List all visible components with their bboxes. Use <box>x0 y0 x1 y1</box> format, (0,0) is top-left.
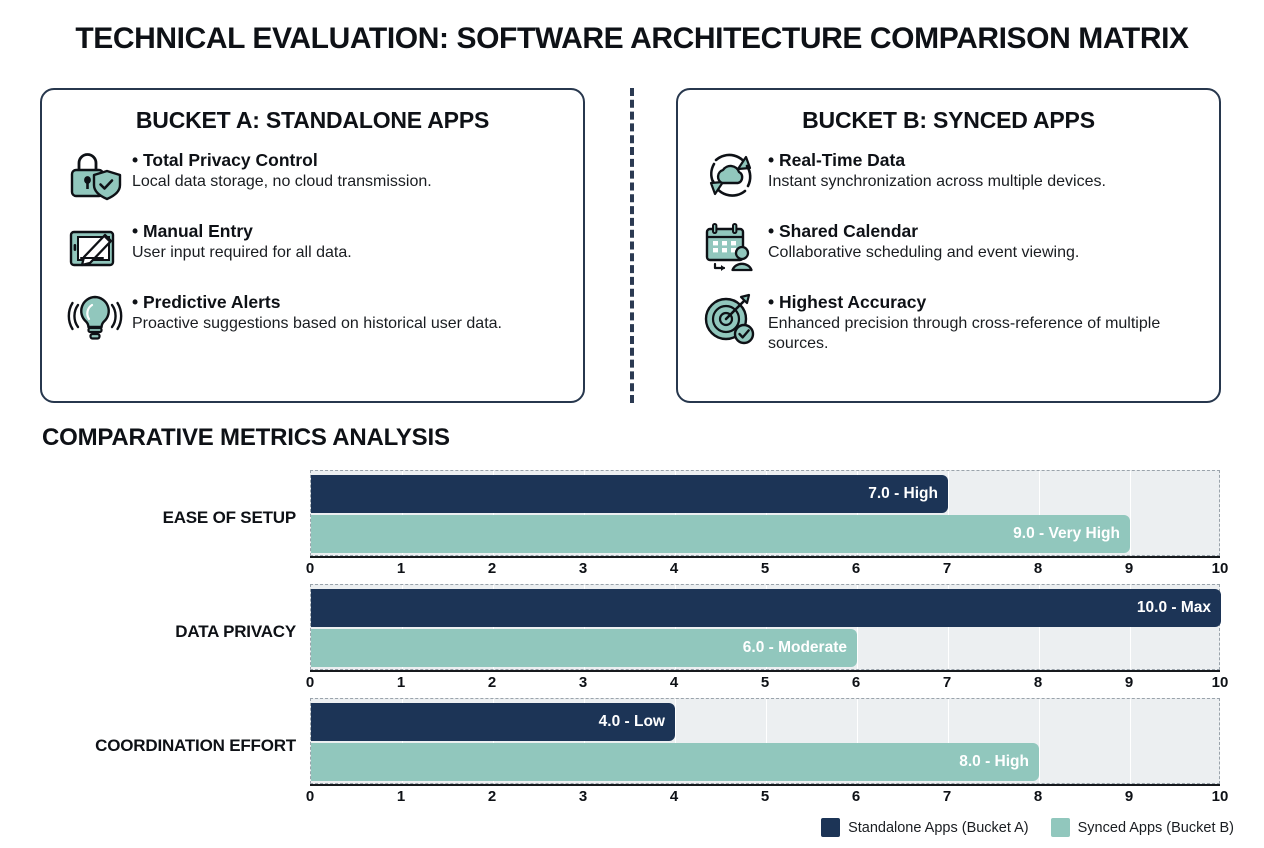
category-label: EASE OF SETUP <box>0 508 296 528</box>
x-tick-label: 2 <box>488 788 496 805</box>
legend-item-standalone: Standalone Apps (Bucket A) <box>821 818 1029 837</box>
x-tick-label: 3 <box>579 788 587 805</box>
x-axis-ticks: 012345678910 <box>310 788 1220 810</box>
feature-total-privacy-control: • Total Privacy Control Local data stora… <box>42 147 583 205</box>
chart-section-title: COMPARATIVE METRICS ANALYSIS <box>42 424 450 452</box>
feature-description: Proactive suggestions based on historica… <box>132 314 567 334</box>
x-tick-label: 9 <box>1125 674 1133 691</box>
bucket-a-title: BUCKET A: STANDALONE APPS <box>42 107 583 134</box>
x-tick-label: 5 <box>761 788 769 805</box>
x-tick-label: 7 <box>943 560 951 577</box>
chart-group: COORDINATION EFFORT4.0 - Low8.0 - High01… <box>0 694 1264 808</box>
chart-group: DATA PRIVACY10.0 - Max6.0 - Moderate0123… <box>0 580 1264 694</box>
feature-description: Enhanced precision through cross-referen… <box>768 314 1203 355</box>
page-title: TECHNICAL EVALUATION: SOFTWARE ARCHITECT… <box>0 22 1264 56</box>
x-tick-label: 7 <box>943 788 951 805</box>
x-tick-label: 2 <box>488 560 496 577</box>
bar-synced[interactable]: 6.0 - Moderate <box>311 629 857 667</box>
bar-standalone[interactable]: 10.0 - Max <box>311 589 1221 627</box>
x-axis-line <box>310 670 1220 672</box>
bucket-b-card: BUCKET B: SYNCED APPS • <box>676 88 1221 403</box>
x-tick-label: 5 <box>761 674 769 691</box>
feature-text: • Predictive Alerts Proactive suggestion… <box>126 289 567 334</box>
legend-swatch-synced <box>1051 818 1070 837</box>
bar-container: 7.0 - High9.0 - Very High <box>311 471 1219 555</box>
feature-shared-calendar: • Shared Calendar Collaborative scheduli… <box>678 218 1219 276</box>
x-tick-label: 10 <box>1212 560 1229 577</box>
comparative-metrics-chart: EASE OF SETUP7.0 - High9.0 - Very High01… <box>0 466 1264 808</box>
target-arrow-check-icon <box>700 289 762 347</box>
x-axis-line <box>310 556 1220 558</box>
legend-label-synced: Synced Apps (Bucket B) <box>1078 820 1234 836</box>
bar-standalone[interactable]: 4.0 - Low <box>311 703 675 741</box>
x-tick-label: 9 <box>1125 560 1133 577</box>
feature-manual-entry: • Manual Entry User input required for a… <box>42 218 583 276</box>
bar-value-label: 7.0 - High <box>868 485 938 503</box>
x-tick-label: 8 <box>1034 788 1042 805</box>
x-tick-label: 1 <box>397 788 405 805</box>
bucket-a-feature-list: • Total Privacy Control Local data stora… <box>42 147 583 347</box>
bar-value-label: 10.0 - Max <box>1137 599 1211 617</box>
x-tick-label: 10 <box>1212 788 1229 805</box>
feature-real-time-data: • Real-Time Data Instant synchronization… <box>678 147 1219 205</box>
x-tick-label: 0 <box>306 674 314 691</box>
x-tick-label: 1 <box>397 674 405 691</box>
bar-value-label: 6.0 - Moderate <box>743 639 847 657</box>
bar-value-label: 9.0 - Very High <box>1013 525 1120 543</box>
bucket-b-feature-list: • Real-Time Data Instant synchronization… <box>678 147 1219 355</box>
feature-heading: • Highest Accuracy <box>768 292 926 312</box>
category-label: COORDINATION EFFORT <box>0 736 296 756</box>
x-tick-label: 6 <box>852 560 860 577</box>
bar-synced[interactable]: 8.0 - High <box>311 743 1039 781</box>
legend-label-standalone: Standalone Apps (Bucket A) <box>848 820 1029 836</box>
x-axis-ticks: 012345678910 <box>310 560 1220 582</box>
feature-description: User input required for all data. <box>132 243 567 263</box>
x-tick-label: 8 <box>1034 560 1042 577</box>
bucket-b-title: BUCKET B: SYNCED APPS <box>678 107 1219 134</box>
plot-area: 10.0 - Max6.0 - Moderate <box>310 584 1220 670</box>
x-tick-label: 1 <box>397 560 405 577</box>
bar-standalone[interactable]: 7.0 - High <box>311 475 948 513</box>
x-axis-line <box>310 784 1220 786</box>
x-tick-label: 6 <box>852 788 860 805</box>
feature-heading: • Total Privacy Control <box>132 150 318 170</box>
bucket-a-card: BUCKET A: STANDALONE APPS • Total Pri <box>40 88 585 403</box>
feature-description: Local data storage, no cloud transmissio… <box>132 172 567 192</box>
plot-area: 4.0 - Low8.0 - High <box>310 698 1220 784</box>
x-tick-label: 10 <box>1212 674 1229 691</box>
feature-text: • Manual Entry User input required for a… <box>126 218 567 263</box>
feature-description: Collaborative scheduling and event viewi… <box>768 243 1203 263</box>
tablet-pencil-icon <box>64 218 126 276</box>
x-tick-label: 8 <box>1034 674 1042 691</box>
bar-value-label: 8.0 - High <box>959 753 1029 771</box>
x-axis-ticks: 012345678910 <box>310 674 1220 696</box>
feature-predictive-alerts: • Predictive Alerts Proactive suggestion… <box>42 289 583 347</box>
legend-item-synced: Synced Apps (Bucket B) <box>1051 818 1234 837</box>
x-tick-label: 6 <box>852 674 860 691</box>
category-label: DATA PRIVACY <box>0 622 296 642</box>
x-tick-label: 4 <box>670 674 678 691</box>
x-tick-label: 5 <box>761 560 769 577</box>
chart-group: EASE OF SETUP7.0 - High9.0 - Very High01… <box>0 466 1264 580</box>
bar-container: 4.0 - Low8.0 - High <box>311 699 1219 783</box>
feature-highest-accuracy: • Highest Accuracy Enhanced precision th… <box>678 289 1219 355</box>
lightbulb-signal-icon <box>64 289 126 347</box>
x-tick-label: 3 <box>579 560 587 577</box>
x-tick-label: 0 <box>306 788 314 805</box>
feature-heading: • Shared Calendar <box>768 221 918 241</box>
feature-text: • Highest Accuracy Enhanced precision th… <box>762 289 1203 355</box>
x-tick-label: 0 <box>306 560 314 577</box>
feature-heading: • Real-Time Data <box>768 150 905 170</box>
x-tick-label: 7 <box>943 674 951 691</box>
feature-text: • Total Privacy Control Local data stora… <box>126 147 567 192</box>
cloud-sync-arrows-icon <box>700 147 762 205</box>
legend-swatch-standalone <box>821 818 840 837</box>
plot-area: 7.0 - High9.0 - Very High <box>310 470 1220 556</box>
feature-text: • Real-Time Data Instant synchronization… <box>762 147 1203 192</box>
bar-synced[interactable]: 9.0 - Very High <box>311 515 1130 553</box>
feature-heading: • Manual Entry <box>132 221 253 241</box>
x-tick-label: 9 <box>1125 788 1133 805</box>
calendar-person-icon <box>700 218 762 276</box>
bar-value-label: 4.0 - Low <box>599 713 665 731</box>
chart-legend: Standalone Apps (Bucket A) Synced Apps (… <box>0 818 1234 837</box>
x-tick-label: 2 <box>488 674 496 691</box>
infographic-page: TECHNICAL EVALUATION: SOFTWARE ARCHITECT… <box>0 0 1264 848</box>
lock-shield-check-icon <box>64 147 126 205</box>
vertical-dashed-divider <box>630 88 634 403</box>
feature-text: • Shared Calendar Collaborative scheduli… <box>762 218 1203 263</box>
bar-container: 10.0 - Max6.0 - Moderate <box>311 585 1219 669</box>
feature-heading: • Predictive Alerts <box>132 292 280 312</box>
feature-description: Instant synchronization across multiple … <box>768 172 1203 192</box>
x-tick-label: 4 <box>670 788 678 805</box>
x-tick-label: 3 <box>579 674 587 691</box>
x-tick-label: 4 <box>670 560 678 577</box>
